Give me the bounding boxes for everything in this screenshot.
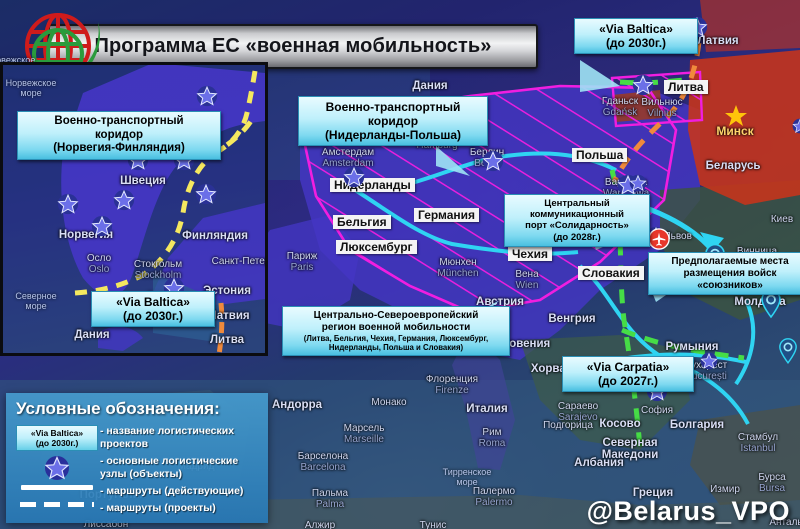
callout-line-4: Нидерланды, Польша и Словакия)	[289, 343, 503, 352]
callout-line-1: Предполагаемые места	[655, 256, 800, 268]
legend-key-dashed	[14, 502, 100, 507]
callout-line-1: Центральный	[511, 198, 643, 209]
legend-text: - название логистических проектов	[100, 425, 260, 450]
callout-line-2: коридор	[305, 114, 481, 128]
callout-line-2: (до 2030г.)	[581, 36, 691, 50]
callout-line-3: «союзников»	[655, 280, 800, 292]
legend-title: Условные обозначения:	[16, 399, 260, 419]
callout-line-3: порт «Солидарность»	[511, 220, 643, 231]
callout-line-4: (до 2028г.)	[511, 232, 643, 243]
callout-line-1: Военно-транспортный	[305, 100, 481, 114]
callout-line-2: (до 2027г.)	[569, 374, 687, 388]
legend-sample-line-2: (до 2030г.)	[21, 438, 93, 448]
legend-text: - маршруты (действующие)	[100, 485, 243, 498]
callout-solidarity-port[interactable]: Центральный коммуникационный порт «Солид…	[504, 194, 650, 247]
legend-item-solid-line: - маршруты (действующие)	[14, 485, 260, 498]
dashed-route-icon	[20, 502, 94, 507]
callout-corridor-netherlands-poland[interactable]: Военно-транспортный коридор (Нидерланды-…	[298, 96, 488, 146]
callout-via-baltica-main[interactable]: «Via Baltica» (до 2030г.)	[574, 18, 698, 54]
legend-item-star-node: - основные логистические узлы (объекты)	[14, 455, 260, 481]
callout-allied-troops[interactable]: Предполагаемые места размещения войск «с…	[648, 252, 800, 295]
legend-sample-line-1: «Via Baltica»	[21, 428, 93, 438]
legend-item-dashed-line: - маршруты (проекты)	[14, 502, 260, 515]
legend-key-label-sample: «Via Baltica» (до 2030г.)	[14, 425, 100, 451]
legend-key-star	[14, 455, 100, 481]
callout-line-1: Центрально-Североевропейский	[289, 310, 503, 322]
legend-sample-callout: «Via Baltica» (до 2030г.)	[16, 425, 98, 451]
watermark: @Belarus_VPO	[587, 496, 790, 527]
solid-route-icon	[21, 485, 93, 490]
callout-line-2: размещения войск	[655, 268, 800, 280]
callout-line-2: регион военной мобильности	[289, 322, 503, 334]
star-node-icon	[44, 455, 70, 481]
callout-line-2: коммуникационный	[511, 209, 643, 220]
callout-via-carpatia[interactable]: «Via Carpatia» (до 2027г.)	[562, 356, 694, 392]
legend-panel: Условные обозначения: «Via Baltica» (до …	[6, 393, 268, 523]
legend-text: - маршруты (проекты)	[100, 502, 216, 515]
legend-key-solid	[14, 485, 100, 490]
legend-text: - основные логистические узлы (объекты)	[100, 455, 260, 480]
callout-line-3: (Литва, Бельгия, Чехия, Германия, Люксем…	[289, 334, 503, 343]
callout-central-north-region[interactable]: Центрально-Североевропейский регион воен…	[282, 306, 510, 356]
legend-item-label-sample: «Via Baltica» (до 2030г.) - название лог…	[14, 425, 260, 451]
map-infographic: НорвежскоемореДанияГданьскGdańskВильнюсV…	[0, 0, 800, 529]
callout-line-1: «Via Baltica»	[581, 22, 691, 36]
callout-line-3: (Нидерланды-Польша)	[305, 128, 481, 142]
callout-line-1: «Via Carpatia»	[569, 360, 687, 374]
